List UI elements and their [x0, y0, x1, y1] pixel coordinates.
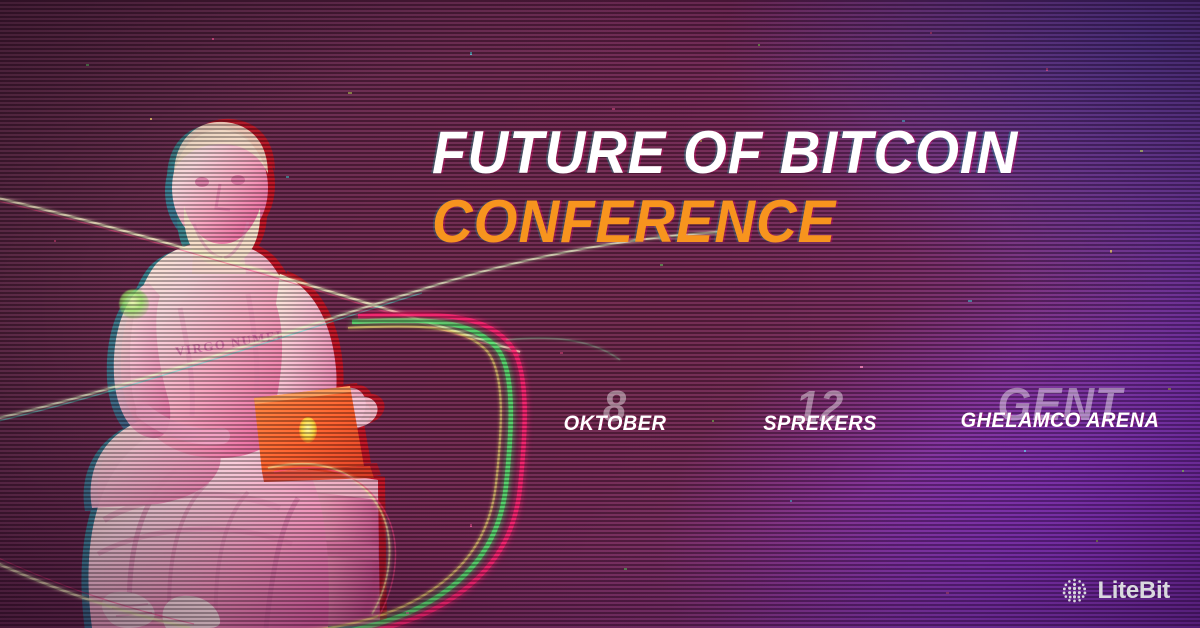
litebit-logo[interactable]: LiteBit [1061, 577, 1170, 604]
info-block-date: 8 OKTOBER [540, 388, 690, 434]
dotted-globe-icon [1061, 577, 1088, 604]
vignette-overlay [0, 0, 1200, 628]
poster-canvas: VIRGO NUMERIS [0, 0, 1200, 628]
event-info-row: 8 OKTOBER 12 SPREKERS GENT GHELAMCO AREN… [540, 388, 1180, 458]
info-venue-label: GHELAMCO ARENA [946, 410, 1174, 431]
headline-line-2: CONFERENCE [432, 194, 1128, 249]
info-date-label: OKTOBER [544, 413, 687, 434]
info-block-speakers: 12 SPREKERS [740, 388, 900, 434]
litebit-logo-text: LiteBit [1097, 579, 1170, 603]
info-block-venue: GENT GHELAMCO ARENA [940, 384, 1180, 431]
headline-line-1: FUTURE OF BITCOIN [432, 125, 1128, 180]
info-speakers-label: SPREKERS [744, 413, 896, 434]
headline-group: FUTURE OF BITCOIN CONFERENCE [432, 125, 1172, 249]
